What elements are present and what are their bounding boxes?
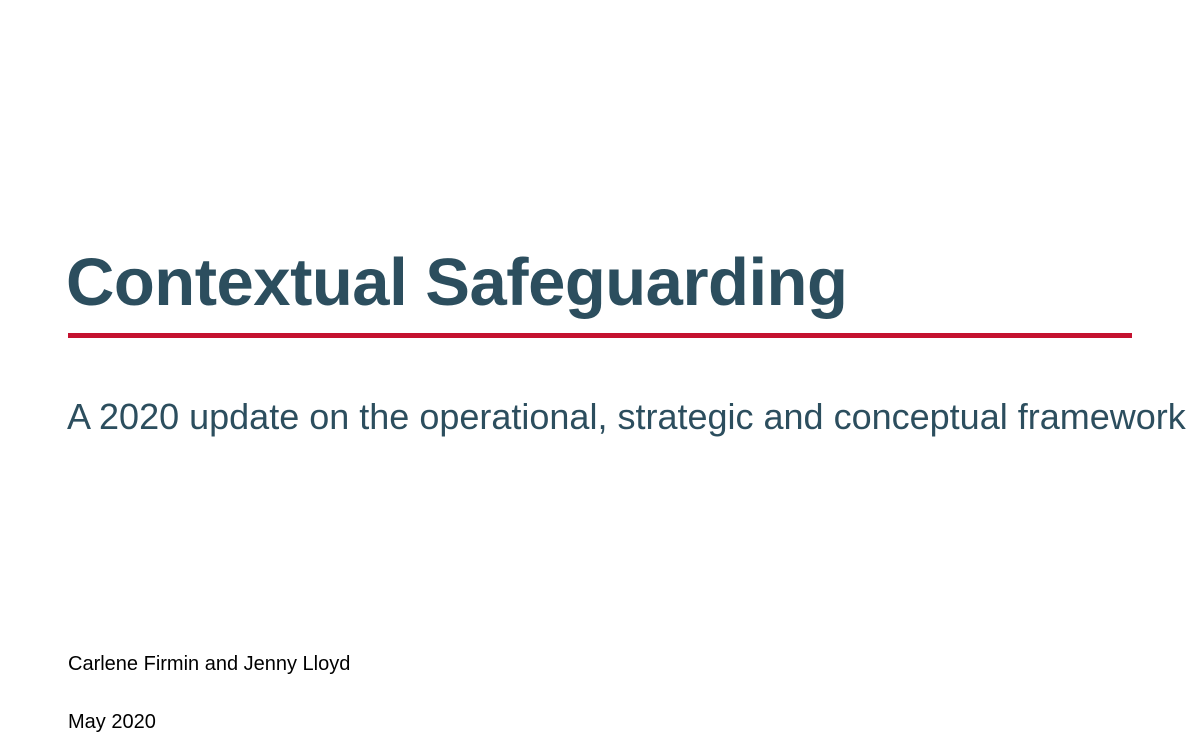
title-slide: Contextual Safeguarding A 2020 update on… bbox=[0, 0, 1200, 750]
page-title: Contextual Safeguarding bbox=[66, 249, 1136, 316]
title-accent-rule bbox=[68, 333, 1132, 338]
byline: Carlene Firmin and Jenny Lloyd May 2020 bbox=[68, 652, 868, 734]
author-names: Carlene Firmin and Jenny Lloyd bbox=[68, 652, 868, 676]
page-subtitle: A 2020 update on the operational, strate… bbox=[67, 396, 1137, 437]
presentation-date: May 2020 bbox=[68, 710, 868, 734]
